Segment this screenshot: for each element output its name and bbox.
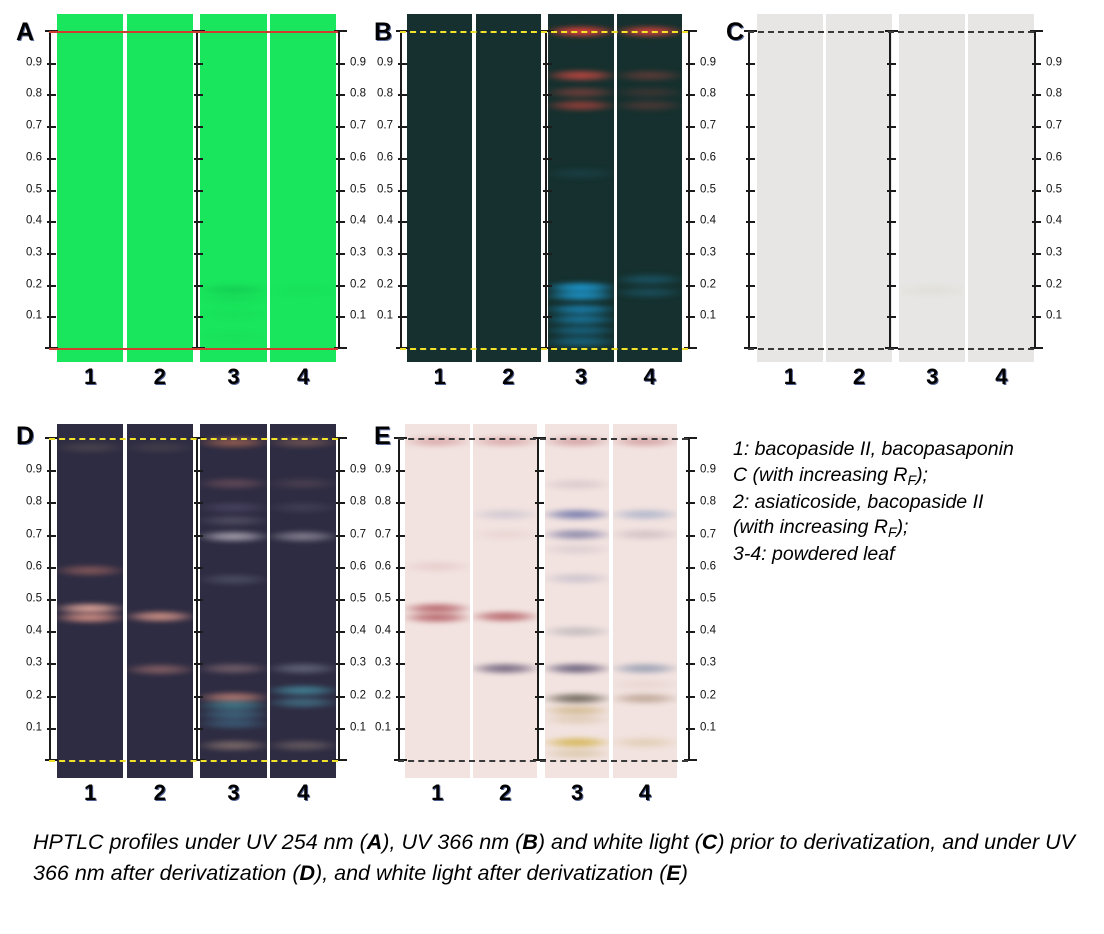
band-rf-0.805 — [548, 86, 613, 99]
band-rf-0.7 — [473, 528, 538, 541]
axis-tick-0.8 — [398, 94, 407, 96]
solvent-front-line — [49, 31, 338, 33]
axis-tick-0.7 — [398, 126, 407, 128]
axis-tick-label-0.3: 0.3 — [375, 658, 391, 670]
axis-tick-0.5 — [1032, 190, 1041, 192]
axis-tick-0.5 — [336, 190, 345, 192]
lane-number-2: 2 — [473, 782, 538, 804]
axis-tick-0.7 — [336, 535, 345, 537]
axis-tick-0.3 — [194, 663, 203, 665]
axis-tick-label-0.5: 0.5 — [377, 184, 393, 196]
axis-tick-label-0.4: 0.4 — [377, 215, 393, 227]
caption-text: ), and white light after derivatization … — [315, 861, 666, 885]
axis-tick-0.3 — [686, 663, 695, 665]
lane-number-row-c: 1234 — [757, 366, 1034, 388]
axis-tick-label-0.2: 0.2 — [350, 279, 366, 291]
band-rf-0.443 — [57, 611, 123, 624]
band-rf-0.97 — [57, 441, 123, 454]
axis-tick-0.7 — [336, 126, 345, 128]
axis-tick-label-0.6: 0.6 — [26, 561, 42, 573]
lane-number-row-a: 1234 — [57, 366, 336, 388]
lane-2-panel-a — [127, 14, 193, 362]
axis-tick-0.7 — [194, 126, 203, 128]
axis-tick-0.5 — [396, 599, 405, 601]
lane-1-panel-e — [405, 424, 470, 778]
axis-tick-label-0.9: 0.9 — [350, 57, 366, 69]
caption-panel-letter: D — [300, 861, 316, 885]
axis-tick-0.6 — [336, 567, 345, 569]
axis-tick-0.7 — [686, 535, 695, 537]
lane-number-1: 1 — [405, 782, 470, 804]
axis-tick-0.1 — [686, 728, 695, 730]
band-rf-0.19 — [613, 692, 678, 705]
lane-number-3: 3 — [548, 366, 613, 388]
axis-tick-0.6 — [336, 158, 345, 160]
axis-tick-0.5 — [686, 190, 695, 192]
axis-tick-label-0.7: 0.7 — [1046, 120, 1062, 132]
caption-text: HPTLC profiles under UV 254 nm ( — [33, 830, 367, 854]
band-rf-0.178 — [270, 696, 336, 709]
axis-tick-label-0.5: 0.5 — [700, 184, 716, 196]
axis-tick-label-0.1: 0.1 — [350, 311, 366, 323]
axis-right-panel-d: 0.90.80.70.60.50.40.30.20.1 — [338, 438, 340, 760]
axis-tick-0.4 — [543, 221, 552, 223]
axis-tick-label-0.4: 0.4 — [375, 625, 391, 637]
lane-2-panel-c — [826, 14, 892, 362]
band-rf-0.99 — [545, 435, 610, 448]
axis-tick-label-0.5: 0.5 — [350, 184, 366, 196]
axis-tick-0.1 — [543, 316, 552, 318]
axis-tick-0.4 — [336, 221, 345, 223]
axis-tick-label-0.6: 0.6 — [350, 561, 366, 573]
axis-tick-label-0.1: 0.1 — [1046, 311, 1062, 323]
axis-tick-0.1 — [336, 728, 345, 730]
axis-tick-0.1 — [396, 728, 405, 730]
lane-number-4: 4 — [270, 782, 336, 804]
axis-tick-0.1 — [535, 728, 544, 730]
axis-tick-label-0.5: 0.5 — [350, 593, 366, 605]
axis-tick-label-0.7: 0.7 — [26, 529, 42, 541]
band-rf-0.055 — [613, 736, 678, 749]
axis-tick-0.2 — [1032, 285, 1041, 287]
band-rf-0.695 — [270, 530, 336, 543]
axis-tick-0.2 — [398, 285, 407, 287]
axis-tick-label-0.7: 0.7 — [350, 120, 366, 132]
axis-tick-0.2 — [686, 285, 695, 287]
axis-tick-0.4 — [746, 221, 755, 223]
lane-1-panel-a — [57, 14, 123, 362]
axis-tick-0.1 — [194, 316, 203, 318]
lane-number-row-e: 1234 — [405, 782, 677, 804]
legend-line-2-a: C (with increasing R — [733, 464, 907, 486]
lane-number-4: 4 — [270, 366, 336, 388]
band-rf-0.7 — [613, 528, 678, 541]
lane-number-4: 4 — [617, 366, 682, 388]
axis-tick-0.9 — [887, 63, 896, 65]
axis-tick-label-0.5: 0.5 — [700, 593, 716, 605]
band-rf-0.97 — [127, 441, 193, 454]
axis-tick-label-0.8: 0.8 — [700, 89, 716, 101]
axis-tick-label-0.9: 0.9 — [1046, 57, 1062, 69]
caption-panel-letter: A — [367, 830, 383, 854]
band-rf-0.99 — [613, 435, 678, 448]
lane-number-3: 3 — [200, 366, 266, 388]
axis-tick-0.8 — [396, 502, 405, 504]
band-rf-0.035 — [200, 330, 266, 343]
axis-tick-label-0.7: 0.7 — [377, 120, 393, 132]
legend-line-1: 1: bacopaside II, bacopasaponin — [733, 437, 1093, 463]
band-rf-0.86 — [617, 69, 682, 82]
lane-4-panel-a — [270, 14, 336, 362]
band-rf-0.18 — [899, 284, 965, 297]
lane-gap — [892, 14, 899, 362]
band-rf-0.125 — [545, 713, 610, 726]
axis-tick-label-0.3: 0.3 — [700, 247, 716, 259]
figure-legend: 1: bacopaside II, bacopasaponin C (with … — [733, 437, 1093, 568]
axis-tick-0.9 — [398, 63, 407, 65]
panel-letter-a: A — [16, 20, 34, 45]
axis-tick-0.3 — [746, 253, 755, 255]
axis-tick-0.2 — [194, 696, 203, 698]
band-rf-0.02 — [548, 335, 613, 348]
band-rf-0.282 — [127, 663, 193, 676]
axis-tick-0.5 — [543, 190, 552, 192]
axis-tick-0.4 — [686, 221, 695, 223]
axis-tick-0.9 — [396, 470, 405, 472]
band-rf-0.765 — [548, 99, 613, 112]
band-rf-0.785 — [270, 501, 336, 514]
caption-text: ) — [681, 861, 688, 885]
axis-tick-label-0.1: 0.1 — [26, 311, 42, 323]
axis-tick-0.9 — [746, 63, 755, 65]
axis-tick-0.4 — [686, 631, 695, 633]
caption-text: ) and white light ( — [538, 830, 702, 854]
band-rf-0.762 — [473, 508, 538, 521]
application-line — [398, 760, 688, 762]
axis-tick-0.3 — [1032, 253, 1041, 255]
axis-tick-0.5 — [535, 599, 544, 601]
lane-number-1: 1 — [57, 782, 123, 804]
axis-tick-0.1 — [194, 728, 203, 730]
axis-tick-0.1 — [686, 316, 695, 318]
axis-tick-0.9 — [686, 470, 695, 472]
axis-tick-0.8 — [543, 94, 552, 96]
axis-tick-0.6 — [543, 158, 552, 160]
axis-tick-0.3 — [336, 253, 345, 255]
band-rf-0.86 — [270, 477, 336, 490]
axis-tick-label-0.7: 0.7 — [350, 529, 366, 541]
axis-tick-0.5 — [47, 599, 56, 601]
axis-tick-0.3 — [398, 253, 407, 255]
lane-1-panel-b — [407, 14, 472, 362]
axis-tick-0.4 — [396, 631, 405, 633]
axis-tick-label-0.2: 0.2 — [377, 279, 393, 291]
axis-middle-panel-e — [537, 438, 539, 760]
axis-tick-0.7 — [543, 126, 552, 128]
lane-3-panel-c — [899, 14, 965, 362]
axis-tick-0.4 — [1032, 221, 1041, 223]
axis-tick-label-0.4: 0.4 — [700, 625, 716, 637]
axis-tick-label-0.4: 0.4 — [700, 215, 716, 227]
lane-2-panel-b — [476, 14, 541, 362]
axis-tick-0.9 — [543, 63, 552, 65]
hptlc-plate-c — [757, 14, 1034, 362]
band-rf-0.285 — [270, 662, 336, 675]
band-rf-0.655 — [545, 543, 610, 556]
axis-tick-0.7 — [535, 535, 544, 537]
band-rf-0.855 — [545, 478, 610, 491]
axis-tick-0.6 — [398, 158, 407, 160]
lane-number-3: 3 — [545, 782, 610, 804]
band-rf-0.785 — [200, 501, 266, 514]
axis-tick-0.8 — [686, 94, 695, 96]
axis-tick-0.4 — [194, 221, 203, 223]
axis-tick-label-0.9: 0.9 — [375, 464, 391, 476]
axis-tick-0.1 — [336, 316, 345, 318]
axis-tick-0.1 — [887, 316, 896, 318]
panel-letter-e: E — [374, 424, 391, 449]
axis-tick-0.7 — [746, 126, 755, 128]
lane-number-3: 3 — [899, 366, 965, 388]
lane-number-spacer — [193, 782, 201, 804]
axis-tick-label-0.2: 0.2 — [375, 690, 391, 702]
axis-tick-label-0.7: 0.7 — [375, 529, 391, 541]
axis-tick-label-0.3: 0.3 — [350, 658, 366, 670]
axis-tick-label-0.7: 0.7 — [700, 120, 716, 132]
application-line — [49, 348, 338, 350]
band-rf-0.765 — [617, 99, 682, 112]
axis-tick-label-0.6: 0.6 — [377, 152, 393, 164]
axis-tick-label-0.8: 0.8 — [26, 89, 42, 101]
axis-tick-0.8 — [47, 94, 56, 96]
band-rf-0.762 — [613, 508, 678, 521]
axis-tick-0.8 — [194, 502, 203, 504]
axis-tick-0.7 — [47, 126, 56, 128]
band-rf-0.4 — [545, 625, 610, 638]
axis-tick-0.4 — [47, 221, 56, 223]
axis-left-panel-e: 0.90.80.70.60.50.40.30.20.1 — [398, 438, 400, 760]
caption-panel-letter: C — [702, 830, 718, 854]
legend-line-5: 3-4: powdered leaf — [733, 542, 1093, 568]
band-rf-0.175 — [617, 286, 682, 299]
axis-tick-label-0.9: 0.9 — [350, 464, 366, 476]
axis-tick-0.7 — [887, 126, 896, 128]
axis-tick-0.8 — [535, 502, 544, 504]
axis-tick-label-0.3: 0.3 — [700, 658, 716, 670]
band-rf-0.86 — [200, 477, 266, 490]
band-rf-0.443 — [405, 611, 470, 624]
axis-tick-label-0.2: 0.2 — [700, 279, 716, 291]
lane-1-panel-c — [757, 14, 823, 362]
band-rf-0.284 — [473, 662, 538, 675]
solvent-front-line — [748, 31, 1034, 33]
axis-tick-0.1 — [1032, 316, 1041, 318]
band-rf-0.695 — [200, 530, 266, 543]
band-rf-0.86 — [548, 69, 613, 82]
axis-tick-0.8 — [336, 94, 345, 96]
axis-tick-0.6 — [887, 158, 896, 160]
axis-tick-0.5 — [194, 190, 203, 192]
axis-tick-label-0.7: 0.7 — [26, 120, 42, 132]
axis-tick-label-0.2: 0.2 — [26, 690, 42, 702]
axis-tick-label-0.1: 0.1 — [375, 722, 391, 734]
caption-panel-letter: B — [522, 830, 538, 854]
lane-4-panel-c — [968, 14, 1034, 362]
lane-3-panel-d — [200, 424, 266, 778]
axis-tick-label-0.4: 0.4 — [350, 215, 366, 227]
lane-number-4: 4 — [613, 782, 678, 804]
axis-right-panel-b: 0.90.80.70.60.50.40.30.20.1 — [688, 31, 690, 348]
legend-line-4-subscript: F — [888, 524, 897, 540]
axis-tick-0.6 — [194, 567, 203, 569]
axis-tick-0.1 — [47, 728, 56, 730]
band-rf-0.215 — [617, 273, 682, 286]
axis-tick-label-0.3: 0.3 — [26, 658, 42, 670]
axis-tick-0.3 — [396, 663, 405, 665]
axis-tick-label-0.1: 0.1 — [377, 311, 393, 323]
axis-left-panel-a: 0.90.80.70.60.50.40.30.20.1 — [49, 31, 51, 348]
lane-number-spacer — [541, 366, 548, 388]
axis-tick-0.5 — [194, 599, 203, 601]
axis-tick-0.2 — [686, 696, 695, 698]
axis-tick-0.8 — [746, 94, 755, 96]
axis-tick-0.9 — [336, 63, 345, 65]
solvent-front-line — [400, 31, 688, 33]
axis-tick-label-0.3: 0.3 — [26, 247, 42, 259]
lane-number-row-b: 1234 — [407, 366, 682, 388]
axis-tick-label-0.2: 0.2 — [26, 279, 42, 291]
band-rf-0.7 — [545, 528, 610, 541]
axis-tick-label-0.2: 0.2 — [350, 690, 366, 702]
axis-tick-0.3 — [336, 663, 345, 665]
axis-tick-0.4 — [887, 221, 896, 223]
lane-number-1: 1 — [57, 366, 123, 388]
axis-tick-0.2 — [887, 285, 896, 287]
lane-number-row-d: 1234 — [57, 782, 336, 804]
axis-tick-label-0.3: 0.3 — [1046, 247, 1062, 259]
axis-tick-0.2 — [336, 696, 345, 698]
axis-tick-label-0.8: 0.8 — [1046, 89, 1062, 101]
axis-middle-panel-c — [889, 31, 891, 348]
axis-tick-label-0.6: 0.6 — [350, 152, 366, 164]
axis-left-panel-b: 0.90.80.70.60.50.40.30.20.1 — [400, 31, 402, 348]
band-rf-0.762 — [545, 508, 610, 521]
lane-number-spacer — [193, 366, 201, 388]
axis-tick-0.3 — [543, 253, 552, 255]
legend-line-4: (with increasing RF); — [733, 515, 1093, 542]
axis-tick-0.7 — [396, 535, 405, 537]
axis-middle-panel-b — [545, 31, 547, 348]
axis-tick-label-0.3: 0.3 — [350, 247, 366, 259]
axis-tick-0.5 — [686, 599, 695, 601]
axis-tick-0.2 — [336, 285, 345, 287]
axis-tick-label-0.5: 0.5 — [26, 593, 42, 605]
axis-right-panel-a: 0.90.80.70.60.50.40.30.20.1 — [338, 31, 340, 348]
axis-tick-label-0.8: 0.8 — [26, 497, 42, 509]
axis-tick-0.2 — [746, 285, 755, 287]
solvent-front-line — [49, 438, 338, 440]
band-rf-0.447 — [127, 610, 193, 623]
band-rf-0.285 — [545, 662, 610, 675]
band-rf-0.235 — [613, 678, 678, 691]
axis-tick-label-0.2: 0.2 — [1046, 279, 1062, 291]
axis-tick-0.2 — [396, 696, 405, 698]
axis-tick-label-0.4: 0.4 — [26, 625, 42, 637]
band-rf-0.285 — [200, 662, 266, 675]
lane-number-1: 1 — [407, 366, 472, 388]
axis-tick-label-0.4: 0.4 — [350, 625, 366, 637]
axis-tick-0.6 — [47, 567, 56, 569]
axis-tick-label-0.8: 0.8 — [350, 89, 366, 101]
band-rf-0.112 — [200, 717, 266, 730]
lane-number-spacer — [892, 366, 899, 388]
axis-middle-panel-a — [196, 31, 198, 348]
figure-caption: HPTLC profiles under UV 254 nm (A), UV 3… — [33, 827, 1075, 888]
lane-number-spacer — [537, 782, 544, 804]
lane-2-panel-e — [473, 424, 538, 778]
lane-1-panel-d — [57, 424, 123, 778]
axis-tick-0.3 — [47, 663, 56, 665]
axis-tick-0.5 — [746, 190, 755, 192]
axis-tick-0.4 — [336, 631, 345, 633]
legend-line-2: C (with increasing RF); — [733, 463, 1093, 490]
axis-tick-label-0.5: 0.5 — [1046, 184, 1062, 196]
caption-text: ), UV 366 nm ( — [382, 830, 522, 854]
axis-tick-0.8 — [887, 94, 896, 96]
axis-tick-label-0.7: 0.7 — [700, 529, 716, 541]
lane-number-4: 4 — [968, 366, 1034, 388]
axis-tick-label-0.6: 0.6 — [375, 561, 391, 573]
axis-tick-label-0.8: 0.8 — [700, 497, 716, 509]
lane-4-panel-d — [270, 424, 336, 778]
lane-4-panel-e — [613, 424, 678, 778]
axis-tick-0.4 — [398, 221, 407, 223]
axis-middle-panel-d — [196, 438, 198, 760]
axis-tick-0.9 — [535, 470, 544, 472]
lane-2-panel-d — [127, 424, 193, 778]
lane-3-panel-a — [200, 14, 266, 362]
band-rf-0.447 — [473, 610, 538, 623]
axis-tick-label-0.9: 0.9 — [377, 57, 393, 69]
axis-tick-0.6 — [686, 158, 695, 160]
axis-tick-label-0.1: 0.1 — [700, 311, 716, 323]
legend-line-3: 2: asiaticoside, bacopaside II — [733, 490, 1093, 516]
axis-tick-0.9 — [47, 470, 56, 472]
axis-left-panel-c — [748, 31, 750, 348]
axis-tick-label-0.2: 0.2 — [700, 690, 716, 702]
axis-right-panel-e: 0.90.80.70.60.50.40.30.20.1 — [688, 438, 690, 760]
caption-panel-letter: E — [666, 861, 680, 885]
axis-tick-label-0.1: 0.1 — [26, 722, 42, 734]
axis-tick-0.4 — [535, 631, 544, 633]
band-rf-0.805 — [617, 86, 682, 99]
lane-number-3: 3 — [200, 782, 266, 804]
axis-tick-label-0.6: 0.6 — [700, 561, 716, 573]
axis-tick-0.3 — [887, 253, 896, 255]
axis-tick-0.8 — [47, 502, 56, 504]
axis-tick-0.9 — [47, 63, 56, 65]
axis-tick-0.4 — [194, 631, 203, 633]
application-line — [748, 348, 1034, 350]
band-rf-0.045 — [270, 739, 336, 752]
axis-tick-0.5 — [336, 599, 345, 601]
axis-tick-0.2 — [194, 285, 203, 287]
band-rf-0.02 — [545, 747, 610, 760]
panel-letter-c: C — [726, 20, 744, 45]
band-rf-0.18 — [270, 284, 336, 297]
legend-line-2-subscript: F — [907, 472, 916, 488]
axis-tick-label-0.3: 0.3 — [377, 247, 393, 259]
